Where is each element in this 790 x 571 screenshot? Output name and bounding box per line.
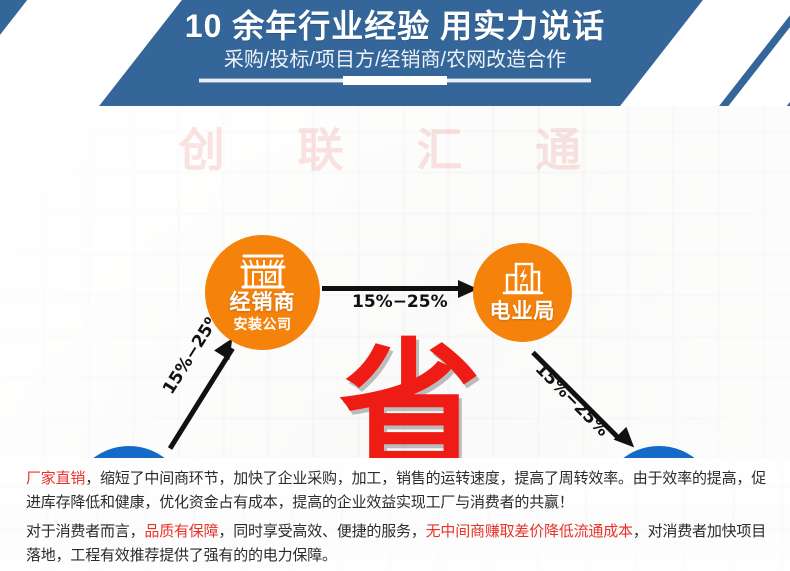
footer-highlight-direct-sale: 厂家直销 bbox=[26, 470, 85, 487]
header-divider bbox=[199, 78, 591, 83]
node-bureau[interactable]: 电业局 bbox=[473, 243, 572, 342]
shop-icon bbox=[240, 252, 286, 290]
power-building-icon bbox=[502, 261, 544, 297]
header-divider-center-cap bbox=[343, 76, 447, 85]
node-dealer-label: 经销商 bbox=[230, 291, 296, 315]
header-content: 10 余年行业经验 用实力说话 采购/投标/项目方/经销商/农网改造合作 bbox=[0, 0, 790, 106]
header-banner: 10 余年行业经验 用实力说话 采购/投标/项目方/经销商/农网改造合作 bbox=[0, 0, 790, 106]
footer-highlight-quality: 品质有保障 bbox=[144, 523, 218, 540]
arrow-dealer-to-bureau-line bbox=[322, 286, 462, 291]
footer-highlight-no-middleman: 无中间商赚取差价降低流通成本 bbox=[426, 523, 633, 540]
footer-paragraph-2: 对于消费者而言，品质有保障，同时享受高效、便捷的服务，无中间商赚取差价降低流通成… bbox=[26, 520, 774, 568]
footer-paragraph-2-lead: 对于消费者而言， bbox=[26, 523, 144, 540]
arrow-dealer-to-bureau-label: 15%−25% bbox=[352, 292, 448, 312]
node-dealer-sublabel: 安装公司 bbox=[234, 315, 292, 333]
brand-watermark: 创 联 汇 通 bbox=[0, 114, 790, 180]
node-bureau-label: 电业局 bbox=[490, 300, 556, 324]
node-dealer[interactable]: 经销商 安装公司 bbox=[205, 235, 320, 350]
header-subtitle: 采购/投标/项目方/经销商/农网改造合作 bbox=[224, 47, 566, 73]
big-save-character: 省 bbox=[325, 334, 495, 458]
header-title: 10 余年行业经验 用实力说话 bbox=[185, 7, 605, 45]
footer-description: 厂家直销，缩短了中间商环节，加快了企业采购，加工，销售的运转速度，提高了周转效率… bbox=[0, 458, 790, 571]
diagram-area: 创 联 汇 通 省 15%−25% 15%−25% 15%−25% 在这里省了中… bbox=[0, 106, 790, 458]
infographic-page: 10 余年行业经验 用实力说话 采购/投标/项目方/经销商/农网改造合作 创 联… bbox=[0, 0, 790, 571]
footer-paragraph-1-rest: ，缩短了中间商环节，加快了企业采购，加工，销售的运转速度，提高了周转效率。由于效… bbox=[26, 470, 766, 511]
footer-paragraph-1: 厂家直销，缩短了中间商环节，加快了企业采购，加工，销售的运转速度，提高了周转效率… bbox=[26, 467, 774, 515]
footer-paragraph-2-mid: ，同时享受高效、便捷的服务， bbox=[218, 523, 425, 540]
